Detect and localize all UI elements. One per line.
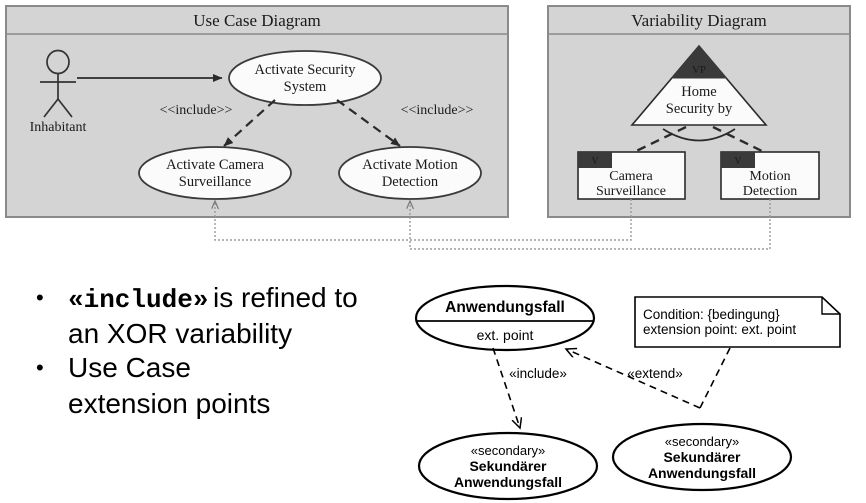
bullet-marker-1: •: [36, 355, 44, 380]
bullet-list: • «include» is refined to an XOR variabi…: [36, 282, 358, 419]
uc-activate-camera-surveillance-line1: Activate Camera: [166, 157, 264, 173]
secondary-use-case-right-line2: Anwendungsfall: [648, 465, 756, 481]
secondary-use-case-right-line1: Sekundärer: [663, 449, 741, 465]
condition-note-line1: Condition: {bedingung}: [643, 307, 780, 322]
bullet-marker-0: •: [36, 285, 44, 310]
variant-camera-surveillance: V Camera Surveillance: [578, 152, 685, 199]
uc-activate-camera-surveillance-shape: [139, 147, 291, 199]
variant-camera-surveillance-line1: Camera: [609, 169, 653, 184]
slide-canvas: Use Case Diagram Inhabitant Activate Sec…: [0, 0, 866, 503]
uc-activate-security-system-line2: System: [284, 79, 327, 95]
variant-motion-detection-tag-label: V: [734, 156, 742, 167]
secondary-use-case-left: «secondary» Sekundärer Anwendungsfall: [419, 433, 597, 499]
include-relation-label: «include»: [509, 366, 567, 381]
secondary-use-case-left-line2: Anwendungsfall: [454, 474, 562, 490]
variant-camera-surveillance-line2: Surveillance: [596, 184, 666, 199]
variant-motion-detection-line1: Motion: [749, 169, 790, 184]
uc-activate-motion-detection-line2: Detection: [382, 174, 439, 190]
secondary-use-case-left-stereotype: «secondary»: [471, 443, 545, 458]
slide-svg: Use Case Diagram Inhabitant Activate Sec…: [0, 0, 866, 503]
secondary-use-case-left-line1: Sekundärer: [469, 458, 547, 474]
uc-activate-security-system: Activate Security System: [229, 51, 381, 105]
uc-activate-security-system-shape: [229, 51, 381, 105]
bullet-line1-rest-1: Use Case: [68, 352, 191, 383]
secondary-use-case-right-stereotype: «secondary»: [665, 434, 739, 449]
uc-activate-motion-detection-line1: Activate Motion: [362, 157, 458, 173]
bullet-line2-0: an XOR variability: [68, 318, 292, 349]
variation-point-line2: Security by: [666, 101, 733, 117]
primary-use-case-name: Anwendungsfall: [445, 299, 565, 316]
primary-use-case-anwendungsfall: Anwendungsfall ext. point: [416, 286, 594, 350]
include-label-right: <<include>>: [401, 103, 474, 118]
include-label-left: <<include>>: [160, 103, 233, 118]
secondary-use-case-right: «secondary» Sekundärer Anwendungsfall: [613, 424, 791, 490]
uc-activate-camera-surveillance: Activate Camera Surveillance: [139, 147, 291, 199]
variant-camera-surveillance-tag-label: V: [591, 156, 599, 167]
bullet-line2-1: extension points: [68, 388, 270, 419]
uc-activate-security-system-line1: Activate Security: [254, 62, 356, 78]
uc-activate-camera-surveillance-line2: Surveillance: [179, 174, 251, 190]
variation-point-tag-label: VP: [692, 64, 706, 76]
condition-note-line2: extension point: ext. point: [643, 322, 796, 337]
extension-points-diagram: Anwendungsfall ext. point Condition: {be…: [416, 286, 840, 499]
variation-point-line1: Home: [681, 84, 716, 100]
condition-note: Condition: {bedingung} extension point: …: [635, 297, 840, 347]
actor-label: Inhabitant: [30, 120, 87, 135]
bullet-line1-rest-0: is refined to: [213, 282, 358, 313]
use-case-diagram-panel: Use Case Diagram Inhabitant Activate Sec…: [6, 6, 508, 217]
variability-diagram-panel: Variability Diagram VP Home Security by …: [548, 6, 850, 217]
bullet-code-0: «include»: [68, 285, 208, 315]
uc-activate-motion-detection: Activate Motion Detection: [339, 147, 481, 199]
extend-relation-label: «extend»: [627, 366, 683, 381]
variant-motion-detection: V Motion Detection: [721, 152, 819, 199]
note-anchor-line: [700, 348, 730, 408]
include-relation-arrow: [493, 348, 520, 428]
variability-diagram-title: Variability Diagram: [631, 11, 767, 30]
variant-motion-detection-line2: Detection: [743, 184, 797, 199]
use-case-diagram-title: Use Case Diagram: [193, 11, 320, 30]
primary-use-case-extension-point: ext. point: [477, 327, 534, 343]
uc-activate-motion-detection-shape: [339, 147, 481, 199]
